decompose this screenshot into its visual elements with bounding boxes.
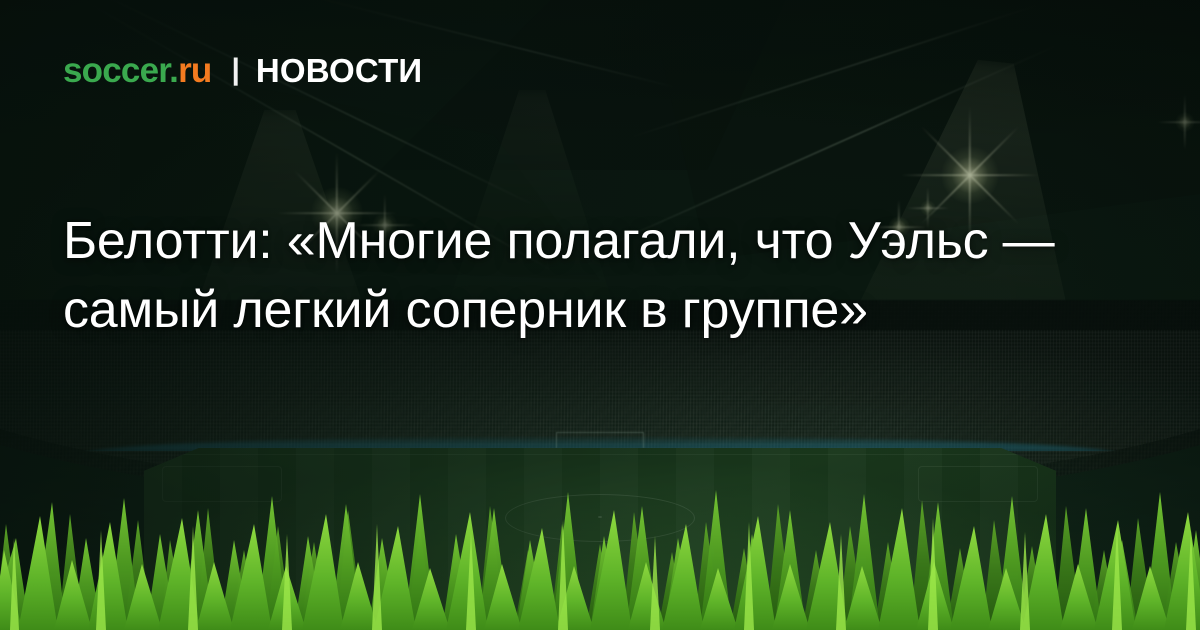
logo-text-soccer: soccer <box>63 51 169 90</box>
news-card: soccer.ru | НОВОСТИ Белотти: «Многие пол… <box>0 0 1200 630</box>
article-headline: Белотти: «Многие полагали, что Уэльс — с… <box>63 207 1073 345</box>
logo-text-dot: . <box>169 51 178 90</box>
header-divider: | <box>231 55 239 85</box>
foreground-grass <box>0 480 1200 630</box>
site-logo[interactable]: soccer.ru <box>63 53 211 88</box>
logo-text-ru: ru <box>178 51 211 90</box>
site-header: soccer.ru | НОВОСТИ <box>63 48 422 92</box>
section-title-news: НОВОСТИ <box>256 54 422 87</box>
